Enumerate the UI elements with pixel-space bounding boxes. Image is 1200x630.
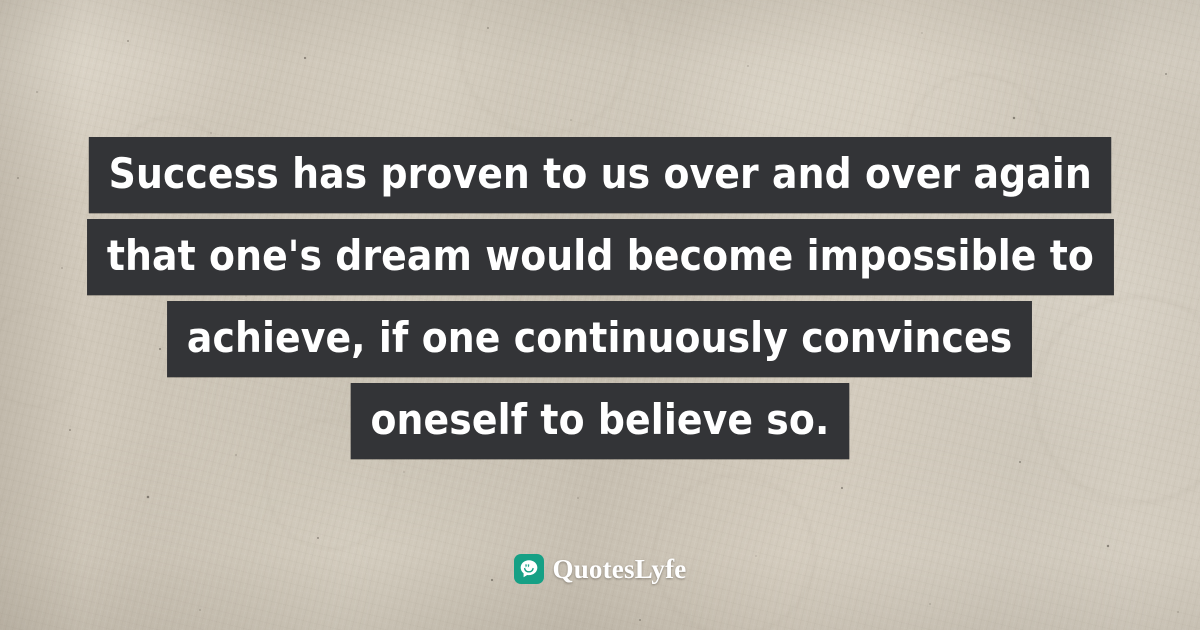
quote-block: Success has proven to us over and over a… <box>0 137 1200 459</box>
quote-smiley-icon <box>514 554 544 584</box>
quote-card: Success has proven to us over and over a… <box>0 0 1200 630</box>
quote-line-1: Success has proven to us over and over a… <box>89 137 1112 213</box>
quote-line-2: that one's dream would become impossible… <box>87 219 1114 295</box>
quote-line-4: oneself to believe so. <box>351 383 850 459</box>
quote-line-3: achieve, if one continuously convinces <box>167 301 1032 377</box>
brand-name: QuotesLyfe <box>553 556 687 583</box>
brand-watermark[interactable]: QuotesLyfe <box>0 554 1200 584</box>
